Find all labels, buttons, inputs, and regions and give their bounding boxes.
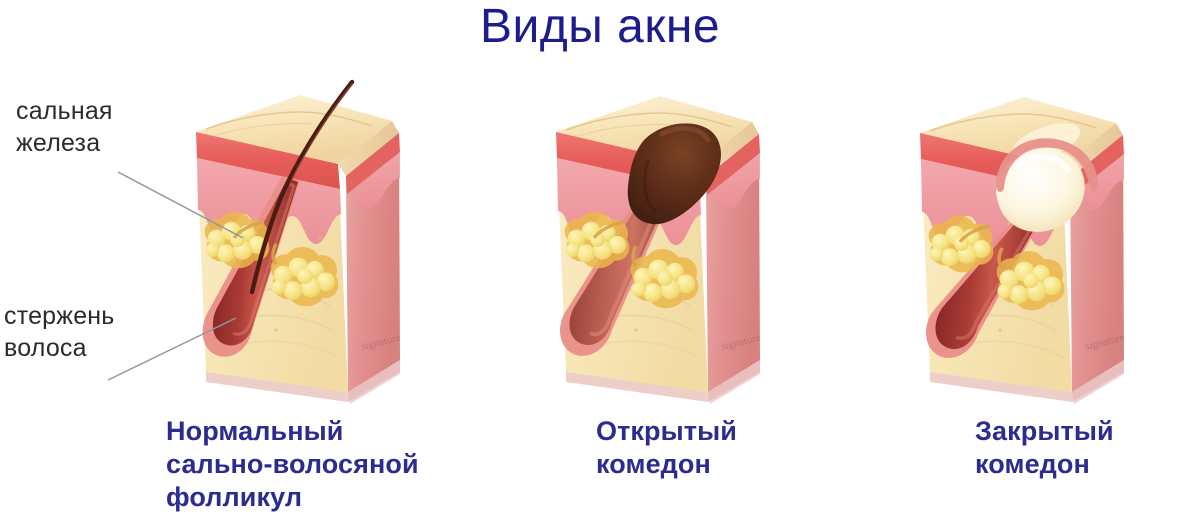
dermis-side-face-closed (1070, 135, 1124, 392)
illustration-canvas: Виды акне сальная железа стержень волоса… (0, 0, 1200, 528)
sebaceous-gland-cluster-closed (929, 216, 994, 273)
papillary-layer-closed (921, 159, 1065, 247)
caption-closed-comedo: Закрытый комедон (975, 415, 1114, 481)
side-label-hair-shaft-line2: волоса (4, 332, 115, 364)
artist-signature-watermark: signature (360, 331, 402, 352)
caption-normal-follicle: Нормальный сально-волосяной фолликул (166, 415, 419, 514)
dermis-side-face-open (706, 134, 760, 392)
sebaceous-gland-cluster-lower (271, 247, 339, 306)
epidermis-closed (920, 133, 1064, 191)
white-plug-closed-comedo (996, 149, 1085, 232)
artist-signature-watermark-open: signature (720, 331, 762, 352)
figure-normal-follicle: signature (196, 82, 402, 404)
sebaceous-gland-cluster (205, 212, 270, 269)
epidermis-normal (196, 132, 340, 189)
epidermis-open (556, 132, 700, 190)
dark-plug-open-comedo (628, 123, 721, 224)
page-title: Виды акне (0, 0, 1200, 56)
skin-surface-open (556, 96, 752, 165)
dilated-follicle-open (560, 180, 676, 356)
caption-normal-follicle-line3: фолликул (166, 481, 419, 514)
follicle-canal-open (570, 182, 673, 345)
side-label-hair-shaft: стержень волоса (4, 300, 115, 364)
caption-normal-follicle-line2: сально-волосяной (166, 448, 419, 481)
papillary-layer-normal (197, 158, 341, 245)
leader-line-hair-shaft (108, 318, 236, 380)
figure-open-comedo: signature (556, 96, 762, 404)
skin-surface-closed (920, 97, 1116, 166)
hair-shaft-normal (252, 82, 352, 292)
sebaceous-gland-cluster-closed-lower (997, 251, 1065, 310)
follicle-canal-closed (936, 220, 1037, 349)
follicle-sheath-normal (203, 176, 300, 357)
side-label-sebaceous-gland-line2: железа (16, 127, 113, 159)
caption-open-comedo: Открытый комедон (596, 415, 737, 481)
side-label-sebaceous-gland-line1: сальная (16, 95, 113, 127)
figure-closed-comedo: signature (920, 97, 1126, 404)
sebaceous-gland-cluster-open-lower (631, 249, 699, 308)
caption-open-comedo-line1: Открытый (596, 415, 737, 448)
caption-open-comedo-line2: комедон (596, 448, 737, 481)
caption-closed-comedo-line1: Закрытый (975, 415, 1114, 448)
sebaceous-gland-cluster-open (565, 212, 630, 269)
artist-signature-watermark-closed: signature (1084, 331, 1126, 352)
side-label-hair-shaft-line1: стержень (4, 300, 115, 332)
dermis-front-face-normal (196, 132, 348, 392)
blocked-follicle-closed (926, 216, 1040, 358)
caption-closed-comedo-line2: комедон (975, 448, 1114, 481)
dermis-side-face-normal (346, 133, 400, 392)
dermis-front-face-closed (920, 133, 1072, 392)
intact-epidermis-over-plug (996, 138, 1098, 192)
hair-follicle-bulb-normal (213, 178, 298, 345)
dermis-front-face-open (556, 132, 708, 392)
skin-surface-normal (196, 95, 392, 164)
caption-normal-follicle-line1: Нормальный (166, 415, 419, 448)
papillary-layer-open (557, 158, 701, 246)
leader-line-sebaceous-gland (118, 172, 243, 238)
side-label-sebaceous-gland: сальная железа (16, 95, 113, 159)
